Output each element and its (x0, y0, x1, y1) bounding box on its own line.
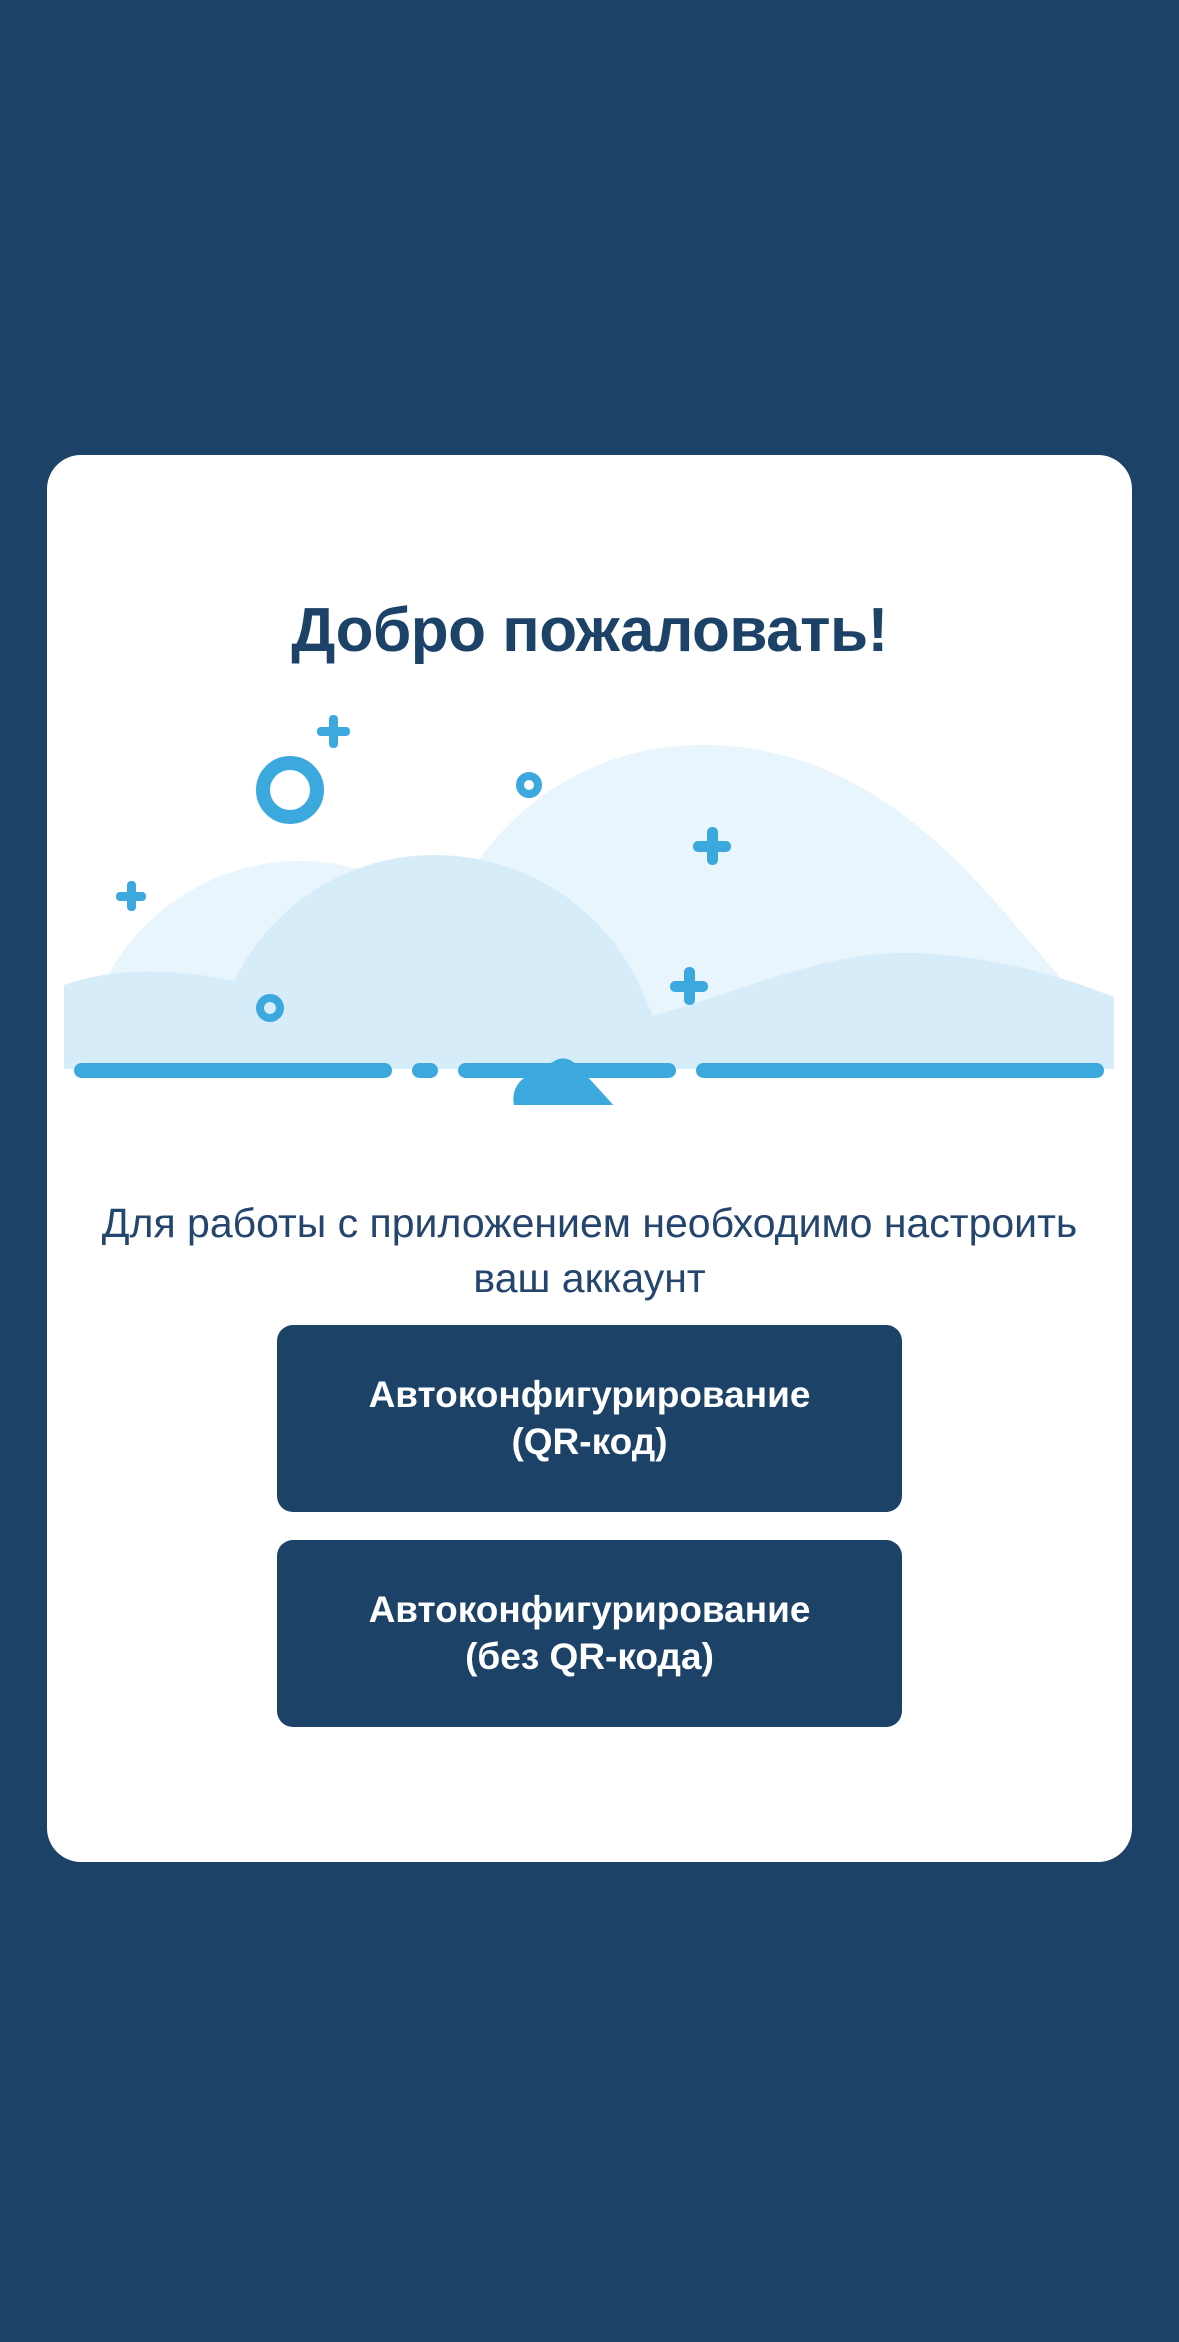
autoconfig-no-qr-button[interactable]: Автоконфигурирование (без QR-кода) (277, 1540, 902, 1727)
page-title: Добро пожаловать! (47, 597, 1132, 665)
welcome-card: Добро пожаловать! (47, 455, 1132, 1862)
plus-icon-left (116, 881, 146, 911)
phone-call-illustration (64, 685, 1114, 1105)
dot-icon-right (520, 776, 538, 794)
action-button-group: Автоконфигурирование (QR-код) Автоконфиг… (47, 1325, 1132, 1727)
autoconfig-qr-button[interactable]: Автоконфигурирование (QR-код) (277, 1325, 902, 1512)
app-screen: Добро пожаловать! (0, 0, 1179, 2342)
plus-icon-top (317, 715, 350, 748)
dashed-baseline (74, 1063, 1104, 1078)
ring-icon-large (263, 763, 317, 817)
setup-instruction-text: Для работы с приложением необходимо наст… (97, 1196, 1082, 1305)
